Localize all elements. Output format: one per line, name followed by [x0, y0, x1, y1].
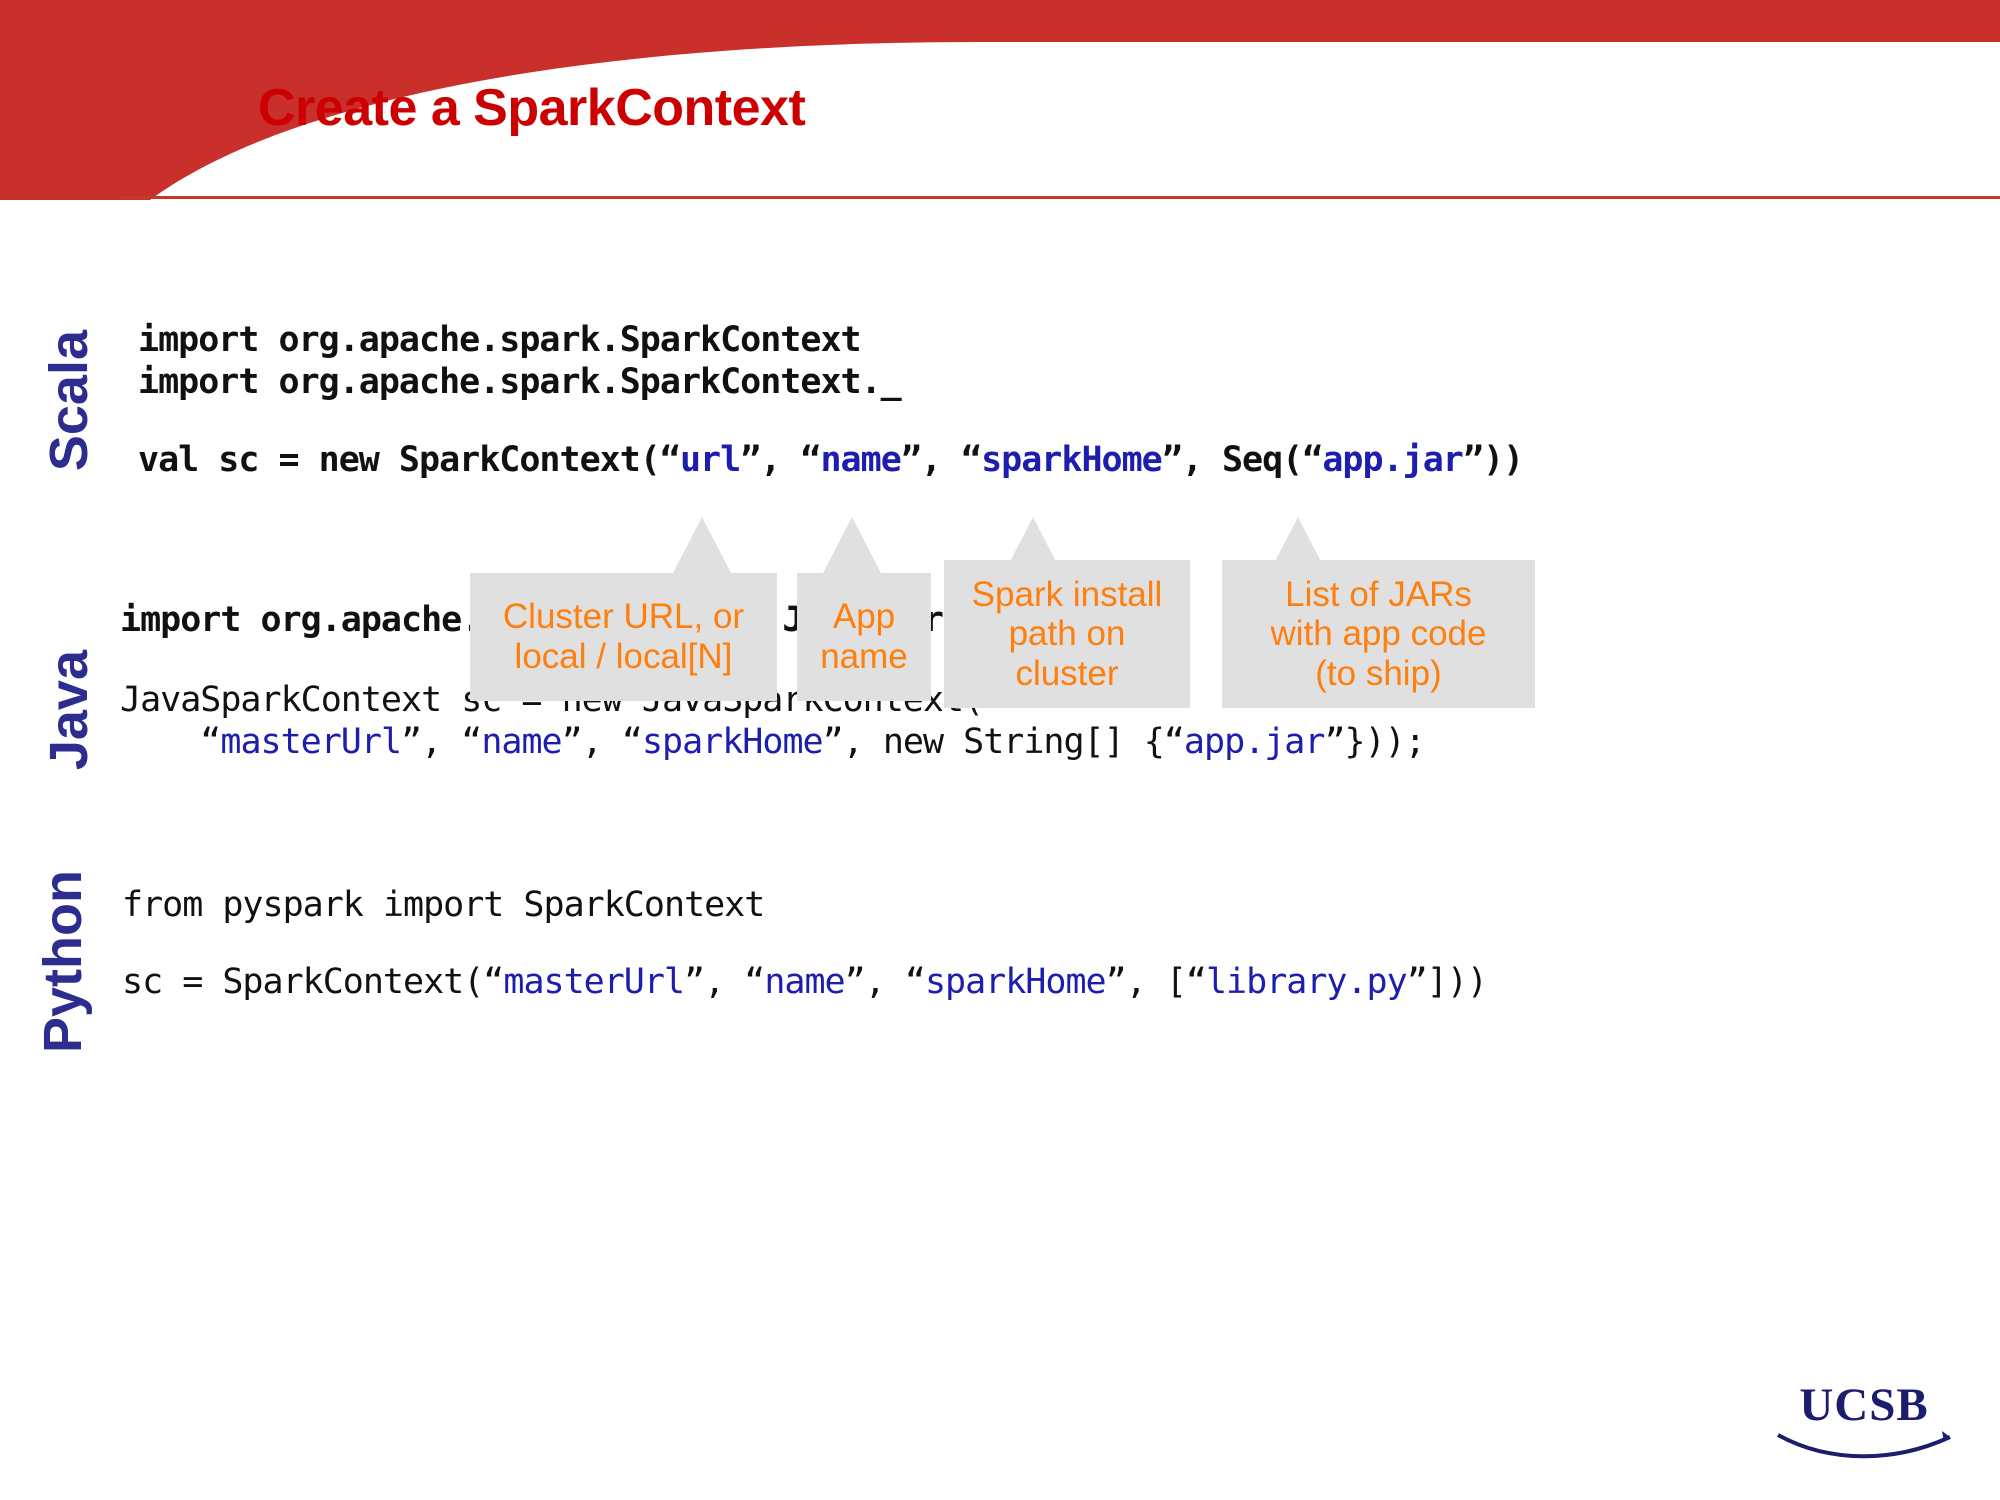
python-code-line-1: from pyspark import SparkContext [122, 885, 764, 925]
quote-close: ” [740, 440, 760, 480]
python-code-line-2: sc = SparkContext(“masterUrl”, “name”, “… [122, 962, 1487, 1002]
py-l2-arg4: library.py [1206, 962, 1407, 1002]
java-l3-indent [120, 722, 200, 762]
py-l2-sep3: , [ [1126, 962, 1186, 1002]
java-code-line-3: “masterUrl”, “name”, “sparkHome”, new St… [120, 722, 1425, 762]
java-l3-sep3: , new String[] { [843, 722, 1164, 762]
py-l2-arg2: name [764, 962, 844, 1002]
quote-open: “ [961, 440, 981, 480]
callout-spark-home: Spark install path on cluster [944, 560, 1190, 708]
callout-jars-line-3: (to ship) [1271, 654, 1487, 694]
callout-jars: List of JARs with app code (to ship) [1222, 560, 1535, 708]
py-l2-sep2: , [865, 962, 905, 1002]
callout-spark-home-line-2: path on [972, 614, 1163, 654]
quote-open: “ [622, 722, 642, 762]
callout-pointer-app-name [822, 517, 882, 575]
language-label-python: Python [36, 870, 90, 1053]
ucsb-logo-swoosh [1774, 1429, 1954, 1463]
quote-close: ” [1407, 962, 1427, 1002]
scala-code-line-1: import org.apache.spark.SparkContext [138, 320, 861, 360]
quote-close: ” [1106, 962, 1126, 1002]
quote-open: “ [200, 722, 220, 762]
title-divider [120, 196, 2000, 199]
callout-spark-home-line-1: Spark install [972, 575, 1163, 615]
java-l3-arg2: name [481, 722, 561, 762]
quote-open: “ [1164, 722, 1184, 762]
scala-l3-prefix: val sc = new SparkContext( [138, 440, 660, 480]
quote-close: ” [845, 962, 865, 1002]
scala-l3-arg4: app.jar [1322, 440, 1463, 480]
scala-l3-arg2: name [820, 440, 900, 480]
py-l2-suffix: ])) [1427, 962, 1487, 1002]
quote-open: “ [800, 440, 820, 480]
py-l2-arg1: masterUrl [503, 962, 684, 1002]
ucsb-logo-text: UCSB [1774, 1382, 1954, 1429]
quote-close: ” [1324, 722, 1344, 762]
callout-spark-home-line-3: cluster [972, 654, 1163, 694]
scala-l3-sep1: , [760, 440, 800, 480]
callout-cluster-url-line-2: local / local[N] [503, 637, 744, 677]
quote-close: ” [823, 722, 843, 762]
callout-jars-line-1: List of JARs [1271, 575, 1487, 615]
quote-close: ” [901, 440, 921, 480]
java-l3-arg4: app.jar [1184, 722, 1325, 762]
quote-close: ” [1162, 440, 1182, 480]
java-l3-arg3: sparkHome [642, 722, 823, 762]
quote-open: “ [660, 440, 680, 480]
scala-code-line-2: import org.apache.spark.SparkContext._ [138, 362, 901, 402]
quote-open: “ [1186, 962, 1206, 1002]
callout-app-name: App name [797, 573, 931, 701]
page-title: Create a SparkContext [258, 78, 805, 138]
language-label-scala: Scala [42, 330, 96, 471]
java-l3-suffix: })); [1345, 722, 1425, 762]
scala-l3-sep3: , Seq( [1182, 440, 1302, 480]
py-l2-arg3: sparkHome [925, 962, 1106, 1002]
callout-pointer-cluster-url [672, 517, 732, 575]
callout-app-name-line-1: App [820, 597, 908, 637]
scala-l3-suffix: )) [1483, 440, 1523, 480]
quote-close: ” [684, 962, 704, 1002]
callout-cluster-url: Cluster URL, or local / local[N] [470, 573, 777, 701]
callout-jars-line-2: with app code [1271, 614, 1487, 654]
java-l3-sep2: , [582, 722, 622, 762]
quote-close: ” [401, 722, 421, 762]
py-l2-prefix: sc = SparkContext( [122, 962, 483, 1002]
quote-close: ” [1463, 440, 1483, 480]
py-l2-sep1: , [704, 962, 744, 1002]
quote-open: “ [1302, 440, 1322, 480]
scala-code-line-3: val sc = new SparkContext(“url”, “name”,… [138, 440, 1523, 480]
quote-open: “ [905, 962, 925, 1002]
callout-app-name-line-2: name [820, 637, 908, 677]
scala-l3-arg1: url [680, 440, 740, 480]
ucsb-logo: UCSB [1774, 1382, 1954, 1474]
quote-open: “ [483, 962, 503, 1002]
quote-close: ” [562, 722, 582, 762]
java-l3-arg1: masterUrl [220, 722, 401, 762]
quote-open: “ [461, 722, 481, 762]
scala-l3-sep2: , [921, 440, 961, 480]
quote-open: “ [744, 962, 764, 1002]
language-label-java: Java [42, 650, 96, 770]
callout-cluster-url-line-1: Cluster URL, or [503, 597, 744, 637]
java-l3-sep1: , [421, 722, 461, 762]
scala-l3-arg3: sparkHome [981, 440, 1162, 480]
